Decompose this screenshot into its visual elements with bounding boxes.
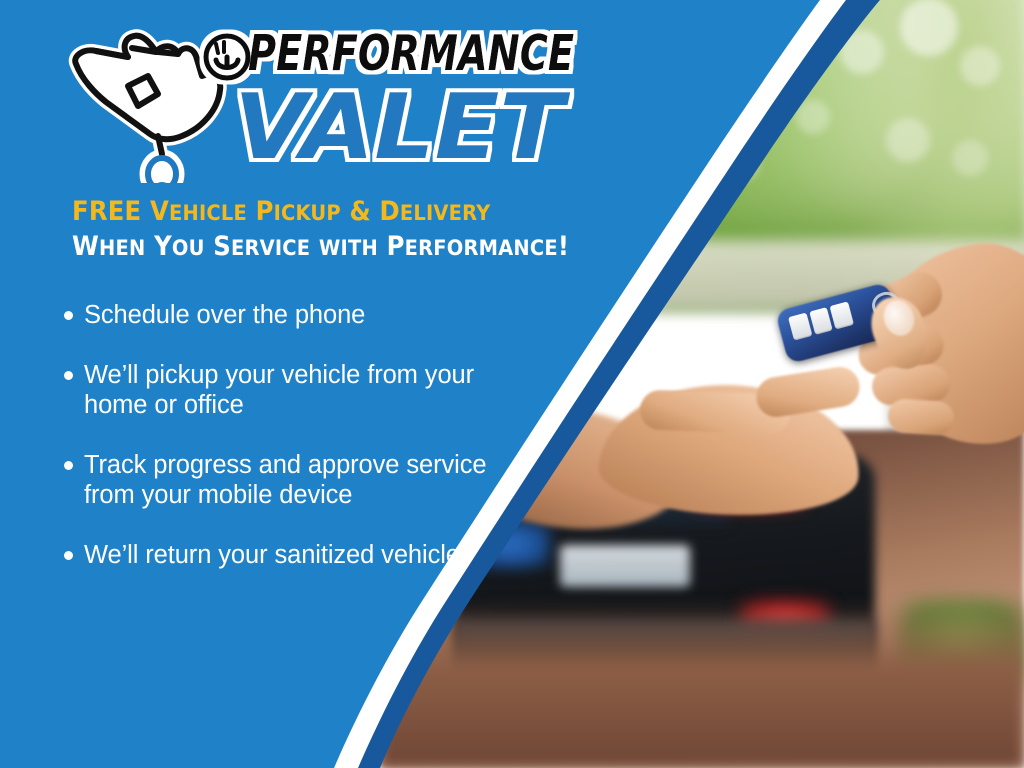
speedometer-icon bbox=[206, 36, 248, 78]
logo-wordmark-bottom: VALET bbox=[234, 75, 571, 180]
logo-wordmark-top: PERFORMANCE bbox=[248, 25, 574, 82]
bullet-dot-icon bbox=[64, 461, 73, 470]
list-item-label: We’ll return your sanitized vehicle bbox=[84, 540, 460, 570]
list-item: Track progress and approve service from … bbox=[64, 450, 534, 510]
list-item: Schedule over the phone bbox=[64, 300, 534, 330]
list-item-label: We’ll pickup your vehicle from your home… bbox=[84, 360, 534, 420]
benefits-list: Schedule over the phone We’ll pickup you… bbox=[64, 300, 534, 600]
list-item-label: Track progress and approve service from … bbox=[84, 450, 534, 510]
bullet-dot-icon bbox=[64, 311, 73, 320]
headline-line-1: FREE VEHICLE PICKUP & DELIVERY bbox=[72, 196, 672, 228]
panel-content: PERFORMANCE VALET FREE VEHICLE PICKUP & … bbox=[0, 0, 660, 768]
bullet-dot-icon bbox=[64, 371, 73, 380]
headline-block: FREE VEHICLE PICKUP & DELIVERY WHEN YOU … bbox=[72, 196, 672, 263]
list-item: We’ll pickup your vehicle from your home… bbox=[64, 360, 534, 420]
hand-holding-key-icon bbox=[75, 36, 220, 183]
list-item-label: Schedule over the phone bbox=[84, 300, 365, 330]
list-item: We’ll return your sanitized vehicle bbox=[64, 540, 534, 570]
promo-banner: PERFORMANCE VALET FREE VEHICLE PICKUP & … bbox=[0, 0, 1024, 768]
headline-line-2: WHEN YOU SERVICE WITH PERFORMANCE! bbox=[72, 231, 672, 263]
bullet-dot-icon bbox=[64, 551, 73, 560]
performance-valet-logo[interactable]: PERFORMANCE VALET bbox=[58, 18, 578, 183]
